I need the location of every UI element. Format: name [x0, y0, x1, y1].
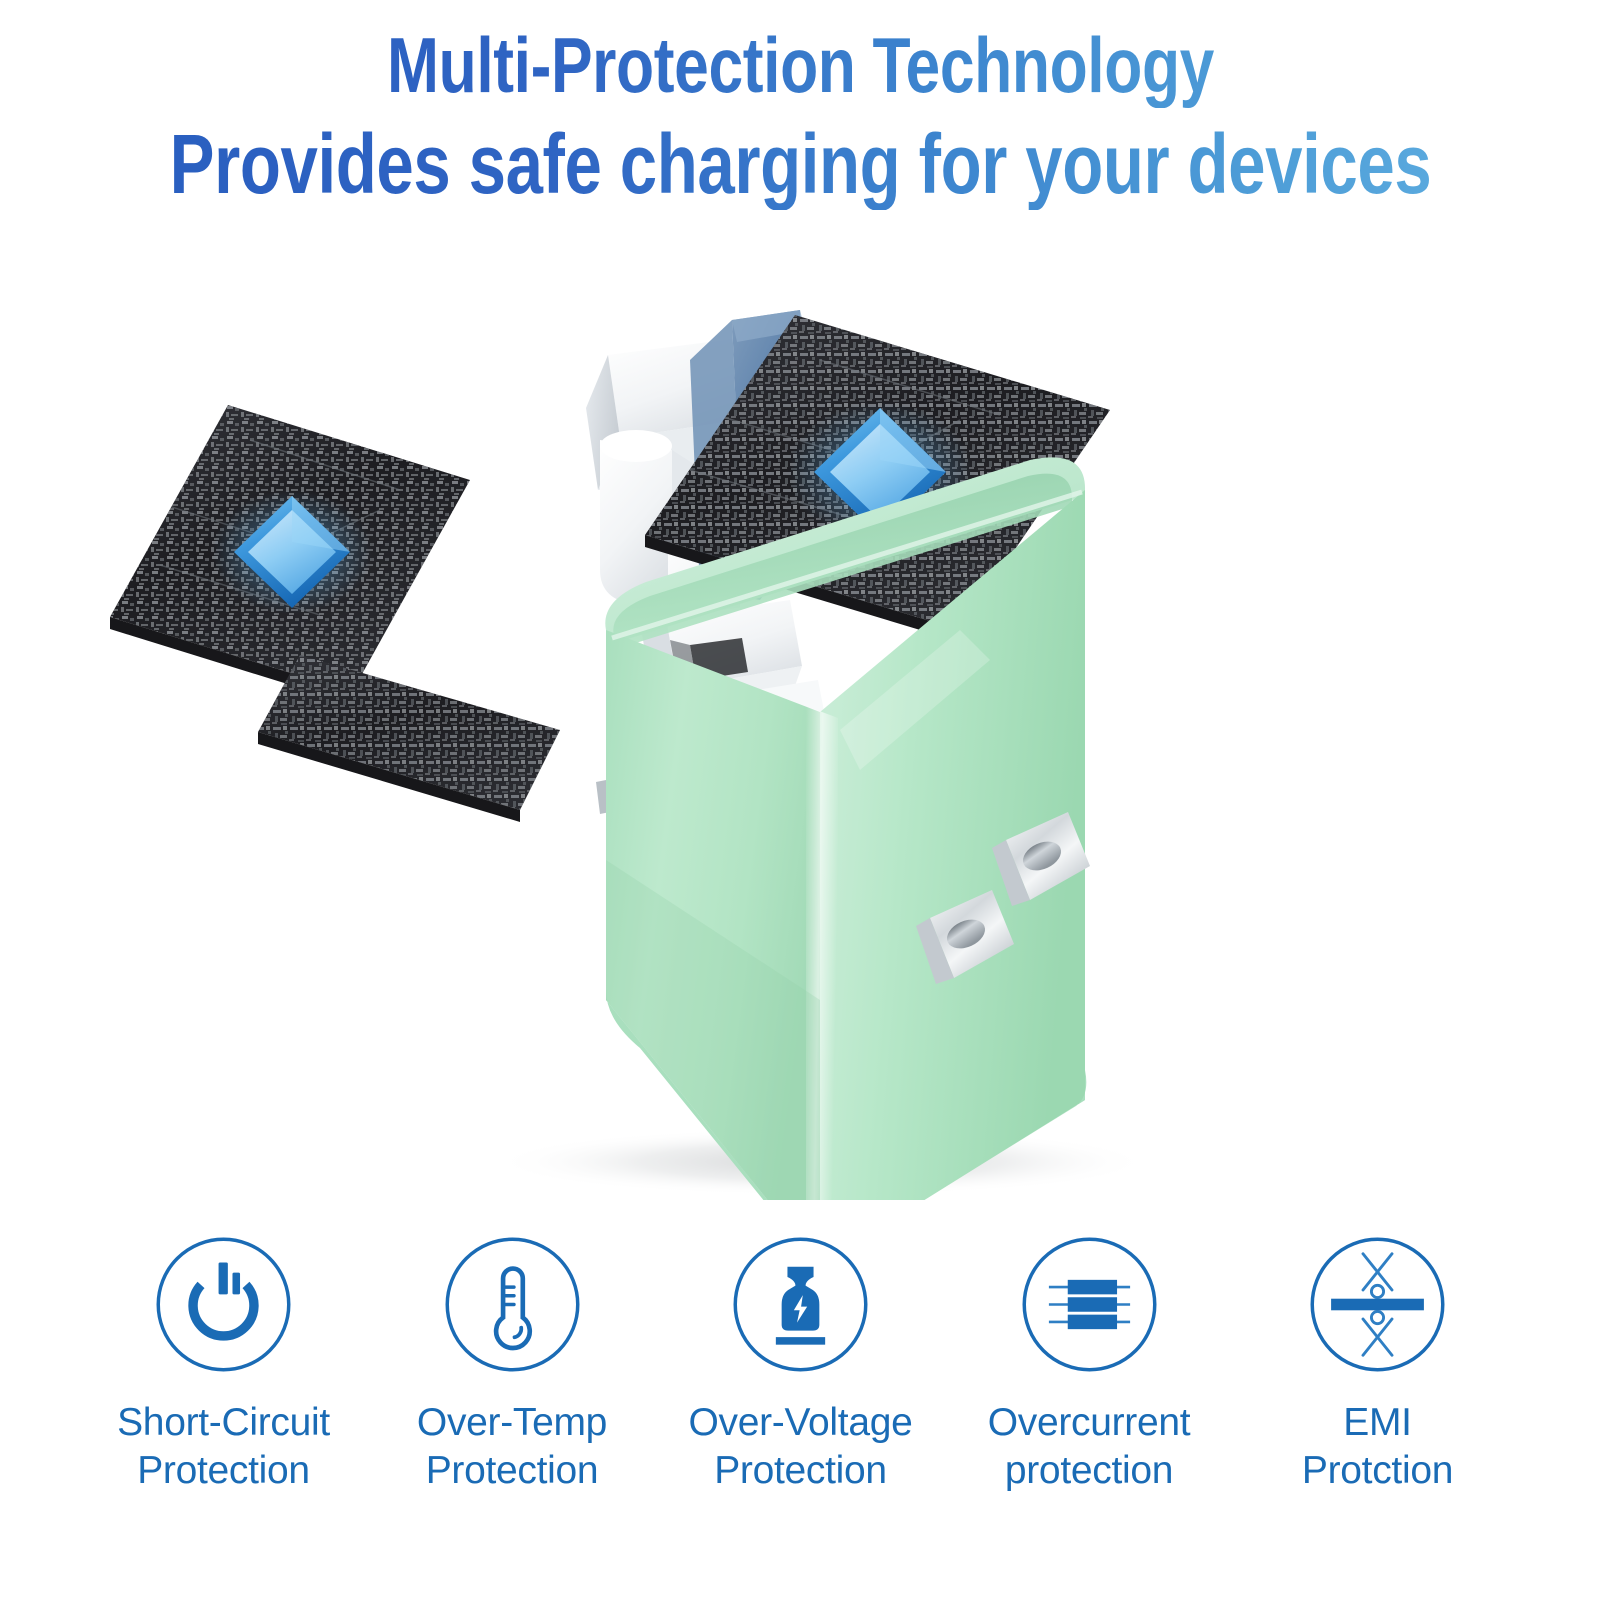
features-row: Short-Circuit Protection Over-Temp Prote… [82, 1232, 1519, 1495]
weight-bolt-icon [728, 1232, 873, 1377]
thermometer-icon [440, 1232, 585, 1377]
feature-overcurrent: Overcurrent protection [948, 1232, 1231, 1495]
circuit-board-bottom [255, 650, 565, 822]
product-image [0, 300, 1601, 1200]
feature-emi: EMI Protction [1236, 1232, 1519, 1495]
emi-shield-icon [1305, 1232, 1450, 1377]
feature-label: Over-Voltage Protection [688, 1399, 912, 1495]
feature-label: Short-Circuit Protection [117, 1399, 330, 1495]
headline-line-1: Multi-Protection Technology [160, 22, 1441, 108]
feature-label: EMI Protction [1302, 1399, 1453, 1495]
circuit-board-left [105, 400, 480, 704]
fuse-bars-icon [1017, 1232, 1162, 1377]
charger-illustration [0, 300, 1601, 1200]
feature-over-temp: Over-Temp Protection [371, 1232, 654, 1495]
power-symbol-icon [151, 1232, 296, 1377]
feature-short-circuit: Short-Circuit Protection [82, 1232, 365, 1495]
feature-label: Over-Temp Protection [417, 1399, 607, 1495]
headline-line-2: Provides safe charging for your devices [160, 118, 1441, 210]
feature-label: Overcurrent protection [988, 1399, 1191, 1495]
feature-over-voltage: Over-Voltage Protection [659, 1232, 942, 1495]
